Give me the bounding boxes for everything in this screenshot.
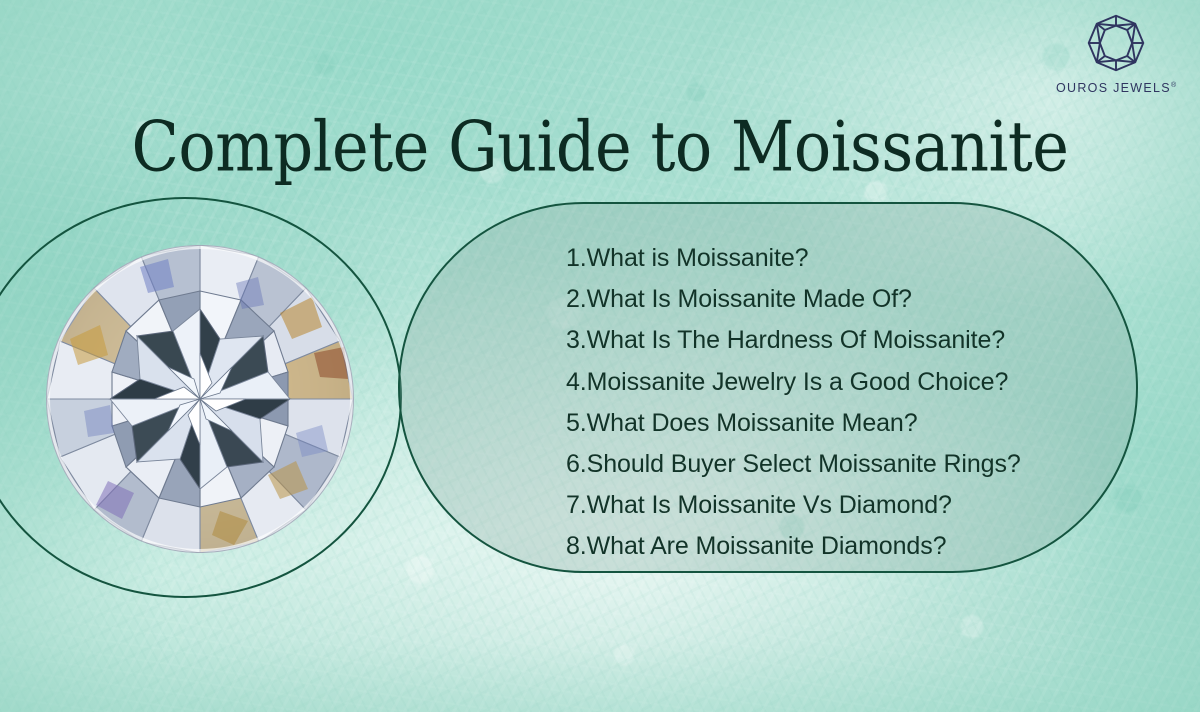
item-number: 7. [566, 491, 587, 519]
item-number: 1. [566, 244, 587, 272]
poster-canvas: OUROS JEWELS® Complete Guide to Moissani… [0, 0, 1200, 712]
faceted-gem-icon [1056, 12, 1176, 78]
list-item[interactable]: 8.What Are Moissanite Diamonds? [566, 526, 1106, 567]
moissanite-gem-image [44, 243, 356, 555]
brand-logo[interactable]: OUROS JEWELS® [1056, 12, 1176, 95]
faq-list: 1.What is Moissanite? 2.What Is Moissani… [566, 238, 1106, 568]
item-label: What Are Moissanite Diamonds? [587, 532, 947, 560]
item-label: What Does Moissanite Mean? [587, 409, 918, 437]
list-item[interactable]: 3.What Is The Hardness Of Moissanite? [566, 320, 1106, 361]
item-number: 2. [566, 285, 587, 313]
item-label: Should Buyer Select Moissanite Rings? [587, 450, 1021, 478]
list-item[interactable]: 5.What Does Moissanite Mean? [566, 403, 1106, 444]
list-item[interactable]: 7.What Is Moissanite Vs Diamond? [566, 485, 1106, 526]
item-number: 4. [566, 368, 587, 396]
item-label: What Is Moissanite Vs Diamond? [587, 491, 952, 519]
brand-wordmark: OUROS JEWELS® [1056, 82, 1176, 95]
item-label: What is Moissanite? [587, 244, 809, 272]
item-number: 8. [566, 532, 587, 560]
list-item[interactable]: 1.What is Moissanite? [566, 238, 1106, 279]
brand-name-text: OUROS JEWELS [1056, 81, 1171, 95]
item-label: Moissanite Jewelry Is a Good Choice? [587, 368, 1009, 396]
item-number: 3. [566, 326, 587, 354]
list-item[interactable]: 4.Moissanite Jewelry Is a Good Choice? [566, 362, 1106, 403]
item-label: What Is Moissanite Made Of? [587, 285, 912, 313]
item-number: 6. [566, 450, 587, 478]
page-title: Complete Guide to Moissanite [0, 111, 1200, 183]
item-number: 5. [566, 409, 587, 437]
list-item[interactable]: 6.Should Buyer Select Moissanite Rings? [566, 444, 1106, 485]
registered-mark: ® [1171, 82, 1176, 89]
item-label: What Is The Hardness Of Moissanite? [587, 326, 1005, 354]
list-item[interactable]: 2.What Is Moissanite Made Of? [566, 279, 1106, 320]
